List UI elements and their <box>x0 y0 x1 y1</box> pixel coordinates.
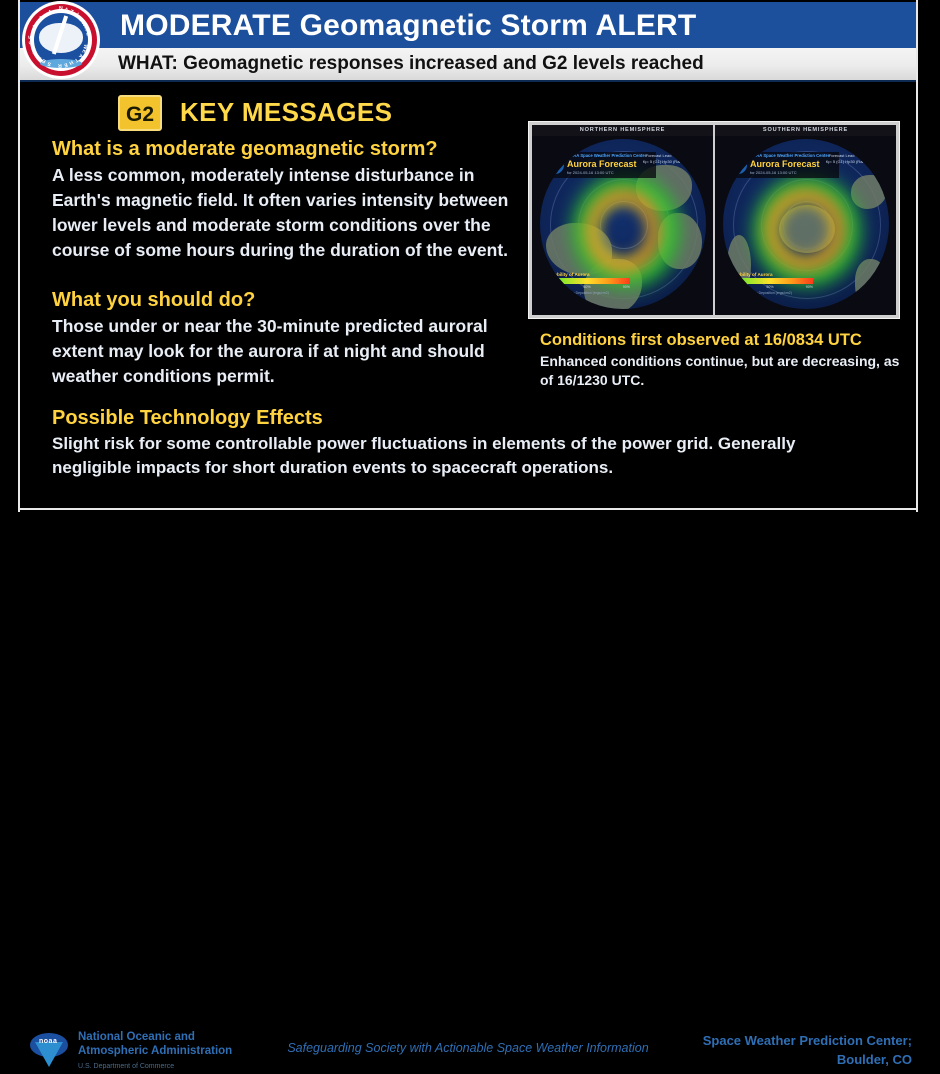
swpc-line-2: Boulder, CO <box>652 1050 912 1069</box>
noaa-wordmark: noaa <box>39 1038 57 1045</box>
aurora-forecast-northern: NORTHERN HEMISPHERE NOAA Space Weather P… <box>532 125 713 315</box>
forecast-image-header: NOAA Space Weather Prediction Center Aur… <box>544 152 656 178</box>
aurora-forecast-image-pair: NORTHERN HEMISPHERE NOAA Space Weather P… <box>528 121 900 319</box>
footer: noaa National Oceanic and Atmospheric Ad… <box>0 512 940 562</box>
block-body: A less common, moderately intense distur… <box>52 163 532 263</box>
legend-tick: 90% <box>806 285 813 289</box>
legend-note: Approximate Energy Deposition (ergs/cm2) <box>544 291 630 295</box>
probability-legend: Probability of Aurora 10% 50% 90% Approx… <box>727 272 813 295</box>
legend-tick: 90% <box>623 285 630 289</box>
legend-tick: 10% <box>544 285 551 289</box>
legend-title: Probability of Aurora <box>544 272 630 277</box>
legend-title: Probability of Aurora <box>727 272 813 277</box>
page-title: MODERATE Geomagnetic Storm ALERT <box>120 6 900 46</box>
kp-index: Kp: 5 (G1) Hp30 (Range 1 to 100) <box>641 159 703 165</box>
forecast-subtitle: for 2024-05-16 13:00 UTC <box>567 170 614 175</box>
forecast-lead-info: Forecast Lead Time: 30 minutes Kp: 5 (G1… <box>641 153 703 165</box>
forecast-title: Aurora Forecast <box>567 159 637 169</box>
swpc-line-1: Space Weather Prediction Center; <box>652 1031 912 1050</box>
forecast-footnote: NOAA/SWPC Boulder CO USA <box>814 302 886 306</box>
footer-swpc: Space Weather Prediction Center; Boulder… <box>652 1031 912 1069</box>
agency-name: NOAA Space Weather Prediction Center <box>567 153 646 158</box>
footer-tagline: Safeguarding Society with Actionable Spa… <box>258 1041 678 1055</box>
legend-note: Approximate Energy Deposition (ergs/cm2) <box>727 291 813 295</box>
noaa-line-1: National Oceanic and <box>78 1030 232 1044</box>
hemisphere-caption: NORTHERN HEMISPHERE <box>532 125 713 136</box>
forecast-footnote: NOAA/SWPC Boulder CO USA <box>631 302 703 306</box>
block-conditions-observed: Conditions first observed at 16/0834 UTC… <box>540 330 910 390</box>
status-badge-g2: G2 <box>118 95 162 131</box>
noaa-logo-icon <box>546 156 564 174</box>
noaa-agency-text: National Oceanic and Atmospheric Adminis… <box>78 1030 232 1074</box>
legend-color-bar <box>727 278 813 284</box>
conditions-body: Enhanced conditions continue, but are de… <box>540 352 910 390</box>
forecast-title: Aurora Forecast <box>750 159 820 169</box>
legend-ticks: 10% 50% 90% <box>727 285 813 289</box>
frame-left-border <box>18 0 20 562</box>
frame-right-border <box>916 0 918 562</box>
kp-index: Kp: 5 (G1) Hp30 (Range 1 to 100) <box>824 159 886 165</box>
key-messages-title: KEY MESSAGES <box>180 97 392 128</box>
what-statement: WHAT: Geomagnetic responses increased an… <box>118 50 704 78</box>
legend-tick: 10% <box>727 285 734 289</box>
alert-slide: MODERATE Geomagnetic Storm ALERT WHAT: G… <box>0 0 940 562</box>
forecast-lead-info: Forecast Lead Time: 30 minutes Kp: 5 (G1… <box>824 153 886 165</box>
block-heading: Possible Technology Effects <box>52 406 852 431</box>
footer-divider <box>20 508 916 510</box>
legend-color-bar <box>544 278 630 284</box>
block-heading: What you should do? <box>52 288 532 313</box>
probability-legend: Probability of Aurora 10% 50% 90% Approx… <box>544 272 630 295</box>
legend-tick: 50% <box>766 285 773 289</box>
block-body: Those under or near the 30-minute predic… <box>52 314 532 389</box>
block-what-you-should-do: What you should do? Those under or near … <box>52 288 532 389</box>
nws-seal-icon: NATIONAL WEATHER SERVICE • • • <box>22 1 100 79</box>
globe-southern: NOAA Space Weather Prediction Center Aur… <box>723 139 889 309</box>
block-heading: What is a moderate geomagnetic storm? <box>52 137 532 162</box>
block-body: Slight risk for some controllable power … <box>52 432 852 480</box>
forecast-image-header: NOAA Space Weather Prediction Center Aur… <box>727 152 839 178</box>
noaa-department: U.S. Department of Commerce <box>78 1060 232 1074</box>
hemisphere-caption: SOUTHERN HEMISPHERE <box>715 125 896 136</box>
block-technology-effects: Possible Technology Effects Slight risk … <box>52 406 852 480</box>
aurora-forecast-southern: SOUTHERN HEMISPHERE NOAA Space Weather P… <box>715 125 896 315</box>
noaa-logo-icon <box>729 156 747 174</box>
conditions-heading: Conditions first observed at 16/0834 UTC <box>540 330 910 351</box>
agency-name: NOAA Space Weather Prediction Center <box>750 153 829 158</box>
noaa-seal-icon: noaa <box>30 1033 68 1067</box>
forecast-subtitle: for 2024-05-16 13:00 UTC <box>750 170 797 175</box>
noaa-line-2: Atmospheric Administration <box>78 1044 232 1058</box>
block-what-is-storm: What is a moderate geomagnetic storm? A … <box>52 137 532 263</box>
globe-northern: NOAA Space Weather Prediction Center Aur… <box>540 139 706 309</box>
legend-tick: 50% <box>583 285 590 289</box>
legend-ticks: 10% 50% 90% <box>544 285 630 289</box>
